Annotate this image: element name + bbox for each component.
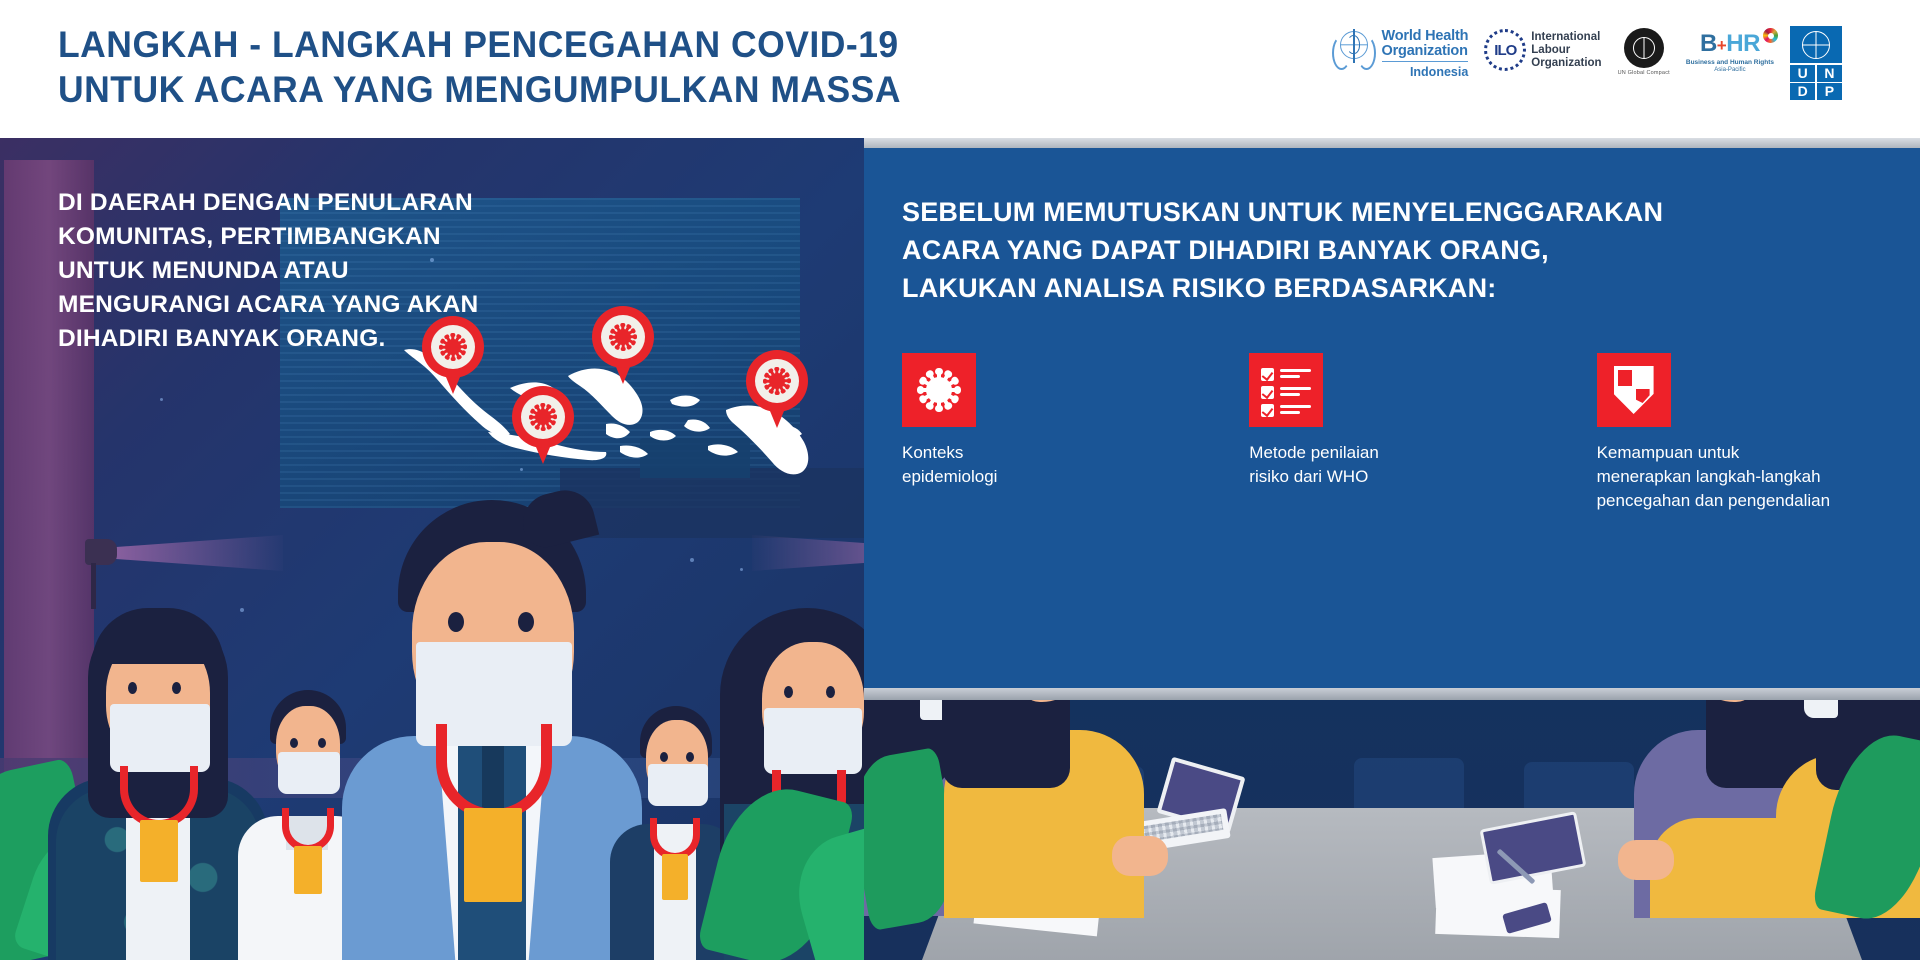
attendee-3-eye-left bbox=[448, 612, 464, 632]
illustration-scene: DI DAERAH DENGAN PENULARAN KOMUNITAS, PE… bbox=[0, 138, 1920, 960]
risk-criterion-1-iconbox bbox=[902, 353, 976, 427]
attendee-1-eye-left bbox=[128, 682, 137, 694]
poster-header: LANGKAH - LANGKAH PENCEGAHAN COVID-19 UN… bbox=[0, 0, 1920, 138]
virus-icon bbox=[608, 322, 638, 352]
attendee-3-eye-right bbox=[518, 612, 534, 632]
attendee-1 bbox=[48, 608, 268, 960]
attendee-5-face-mask bbox=[764, 708, 862, 774]
who-country-label: Indonesia bbox=[1382, 65, 1469, 79]
left-callout-text: DI DAERAH DENGAN PENULARAN KOMUNITAS, PE… bbox=[58, 186, 488, 356]
globe-wreath-icon bbox=[1624, 28, 1664, 68]
attendee-4-face-mask bbox=[648, 764, 708, 806]
board-heading-line-3: LAKUKAN ANALISA RISIKO BERDASARKAN: bbox=[902, 269, 1862, 307]
undp-letter-u: U bbox=[1790, 65, 1815, 82]
attendee-4-eye-left bbox=[660, 752, 668, 762]
attendee-1-face-mask bbox=[110, 704, 210, 772]
risk-criterion-3: Kemampuan untuk menerapkan langkah-langk… bbox=[1597, 353, 1892, 513]
ilo-name-line-2: Labour bbox=[1531, 44, 1601, 57]
bhr-plus: + bbox=[1717, 36, 1726, 55]
checklist-icon bbox=[1261, 368, 1311, 412]
attendee-5-eye-right bbox=[826, 686, 835, 698]
bhr-subtitle-1: Business and Human Rights bbox=[1686, 59, 1774, 66]
who-name-line-2: Organization bbox=[1382, 44, 1469, 59]
attendee-2-face-mask bbox=[278, 752, 340, 794]
risk-criterion-3-iconbox bbox=[1597, 353, 1671, 427]
risk-criterion-1: Konteks epidemiologi bbox=[902, 353, 1075, 513]
bhr-hr: HR bbox=[1726, 30, 1760, 57]
attendee-4-badge bbox=[662, 854, 688, 900]
attendee-1-badge bbox=[140, 820, 178, 882]
sdg-ring-icon bbox=[1763, 28, 1778, 43]
undp-letter-n: N bbox=[1817, 65, 1842, 82]
who-logo: World Health Organization Indonesia bbox=[1331, 26, 1469, 79]
bhr-wordmark: B+HR bbox=[1686, 32, 1774, 58]
bhr-subtitle-2: Asia-Pacific bbox=[1686, 67, 1774, 73]
ilo-logo: ILO International Labour Organization bbox=[1484, 26, 1601, 71]
bhr-b: B bbox=[1700, 30, 1717, 57]
risk-criterion-2: Metode penilaian risiko dari WHO bbox=[1249, 353, 1422, 513]
risk-criterion-1-caption-line-1: Konteks bbox=[902, 441, 1075, 465]
un-emblem-icon bbox=[1790, 26, 1842, 63]
page-title: LANGKAH - LANGKAH PENCEGAHAN COVID-19 UN… bbox=[58, 22, 1058, 112]
participant-right-front-hand bbox=[1618, 840, 1674, 880]
risk-criterion-2-caption-line-1: Metode penilaian bbox=[1249, 441, 1422, 465]
infographic-poster: LANGKAH - LANGKAH PENCEGAHAN COVID-19 UN… bbox=[0, 0, 1920, 960]
risk-criterion-2-iconbox bbox=[1249, 353, 1323, 427]
map-marker-4 bbox=[746, 350, 808, 436]
risk-criterion-3-caption-line-3: pencegahan dan pengendalian bbox=[1597, 489, 1892, 513]
who-underline bbox=[1382, 61, 1469, 62]
attendee-3-badge bbox=[464, 808, 522, 902]
virus-icon bbox=[762, 366, 792, 396]
attendee-2-badge bbox=[294, 846, 322, 894]
masked-attendees-group bbox=[0, 438, 900, 960]
risk-criterion-2-caption-line-2: risiko dari WHO bbox=[1249, 465, 1422, 489]
attendee-2-eye-right bbox=[318, 738, 326, 748]
virus-icon bbox=[528, 402, 558, 432]
ungc-caption: UN Global Compact bbox=[1618, 70, 1670, 76]
ilo-name-line-1: International bbox=[1531, 31, 1601, 44]
ilo-emblem-icon: ILO bbox=[1484, 29, 1526, 71]
board-frame-top bbox=[864, 138, 1920, 148]
risk-criterion-3-caption-line-1: Kemampuan untuk bbox=[1597, 441, 1892, 465]
ilo-name-line-3: Organization bbox=[1531, 57, 1601, 70]
who-emblem-icon bbox=[1331, 26, 1377, 72]
attendee-3-main bbox=[342, 500, 642, 960]
undp-letter-d: D bbox=[1790, 83, 1815, 100]
attendee-5-eye-left bbox=[784, 686, 793, 698]
board-heading-line-2: ACARA YANG DAPAT DIHADIRI BANYAK ORANG, bbox=[902, 231, 1862, 269]
title-line-1: LANGKAH - LANGKAH PENCEGAHAN COVID-19 bbox=[58, 22, 1018, 67]
ilo-monogram: ILO bbox=[1494, 42, 1516, 59]
who-name-line-1: World Health bbox=[1382, 29, 1469, 44]
map-marker-3 bbox=[592, 306, 654, 392]
participant-left-front-hand bbox=[1112, 836, 1168, 876]
attendee-4-eye-right bbox=[686, 752, 694, 762]
board-heading-line-1: SEBELUM MEMUTUSKAN UNTUK MENYELENGGARAKA… bbox=[902, 193, 1862, 231]
title-line-2: UNTUK ACARA YANG MENGUMPULKAN MASSA bbox=[58, 67, 1018, 112]
risk-criteria-list: Konteks epidemiologi Metode penil bbox=[902, 353, 1892, 513]
bhr-logo: B+HR Business and Human Rights Asia-Paci… bbox=[1686, 26, 1774, 73]
left-callout: DI DAERAH DENGAN PENULARAN KOMUNITAS, PE… bbox=[58, 186, 488, 356]
shield-icon bbox=[1614, 366, 1654, 414]
risk-criterion-1-caption-line-2: epidemiologi bbox=[902, 465, 1075, 489]
undp-letter-p: P bbox=[1817, 83, 1842, 100]
un-global-compact-logo: UN Global Compact bbox=[1618, 26, 1670, 76]
virus-icon bbox=[915, 366, 963, 414]
risk-criterion-3-caption-line-2: menerapkan langkah-langkah bbox=[1597, 465, 1892, 489]
attendee-2-eye-left bbox=[290, 738, 298, 748]
logo-strip: World Health Organization Indonesia ILO … bbox=[1331, 26, 1842, 100]
undp-logo: U N D P bbox=[1790, 26, 1842, 100]
attendee-1-eye-right bbox=[172, 682, 181, 694]
board-frame-bottom bbox=[864, 688, 1920, 700]
risk-analysis-board: SEBELUM MEMUTUSKAN UNTUK MENYELENGGARAKA… bbox=[864, 138, 1920, 838]
board-heading: SEBELUM MEMUTUSKAN UNTUK MENYELENGGARAKA… bbox=[902, 193, 1862, 307]
attendee-1-hair-front bbox=[92, 608, 224, 664]
